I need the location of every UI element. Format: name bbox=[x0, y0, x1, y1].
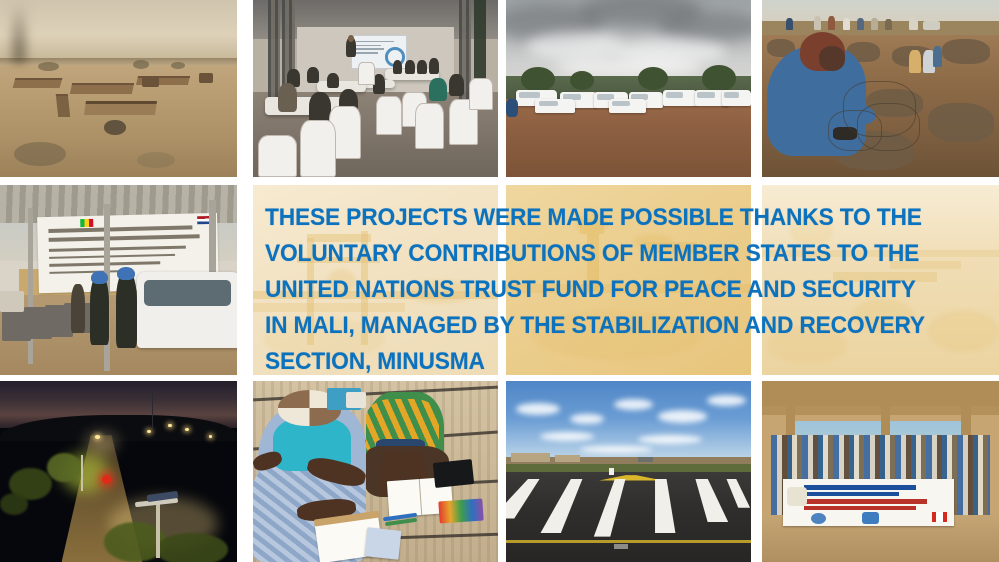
unpol-handover-image bbox=[0, 185, 237, 375]
photo-tile-gabion-erosion-works: Man in blue shirt and brown turban crouc… bbox=[762, 0, 999, 177]
election-awareness-image bbox=[762, 381, 999, 562]
womens-literacy-image bbox=[253, 381, 498, 562]
un-emblem-icon bbox=[862, 512, 879, 524]
un-vehicle-fleet-image bbox=[506, 0, 751, 177]
photo-tile-conference-workshop: Conference hall with round tables, white… bbox=[253, 0, 498, 177]
conference-workshop-image bbox=[253, 0, 498, 177]
photo-tile-airport-runway: Rehabilitated airport runway threshold w… bbox=[506, 381, 751, 562]
amrtpe-logo-icon bbox=[787, 487, 807, 506]
photo-collage: Aerial view of a construction site with … bbox=[0, 0, 999, 562]
partner-emblem-icon bbox=[811, 513, 826, 524]
photo-tile-womens-literacy-session: Two women seated on a woven mat working … bbox=[253, 381, 498, 562]
gabion-erosion-works-image bbox=[762, 0, 999, 177]
photo-tile-desert-construction-site: Aerial view of a construction site with … bbox=[0, 0, 237, 177]
photo-tile-solar-street-lighting: Night view of a sandy village street ill… bbox=[0, 381, 237, 562]
desert-construction-image bbox=[0, 0, 237, 177]
photo-tile-election-awareness-group-photo: Large group photo in front of a building… bbox=[762, 381, 999, 562]
solar-street-lighting-image bbox=[0, 381, 237, 562]
banner-headline: THESE PROJECTS WERE MADE POSSIBLE THANKS… bbox=[265, 200, 935, 380]
mali-flag-icon bbox=[80, 219, 93, 228]
airport-runway-image bbox=[506, 381, 751, 562]
photo-tile-un-vehicle-fleet: Row of white UN-marked pickup trucks and… bbox=[506, 0, 751, 177]
canada-flag-icon bbox=[932, 512, 947, 522]
amrtpe-election-banner bbox=[783, 479, 954, 526]
photo-tile-unpol-equipment-handover: UNPOL handover ceremony under a shelter … bbox=[0, 185, 237, 375]
